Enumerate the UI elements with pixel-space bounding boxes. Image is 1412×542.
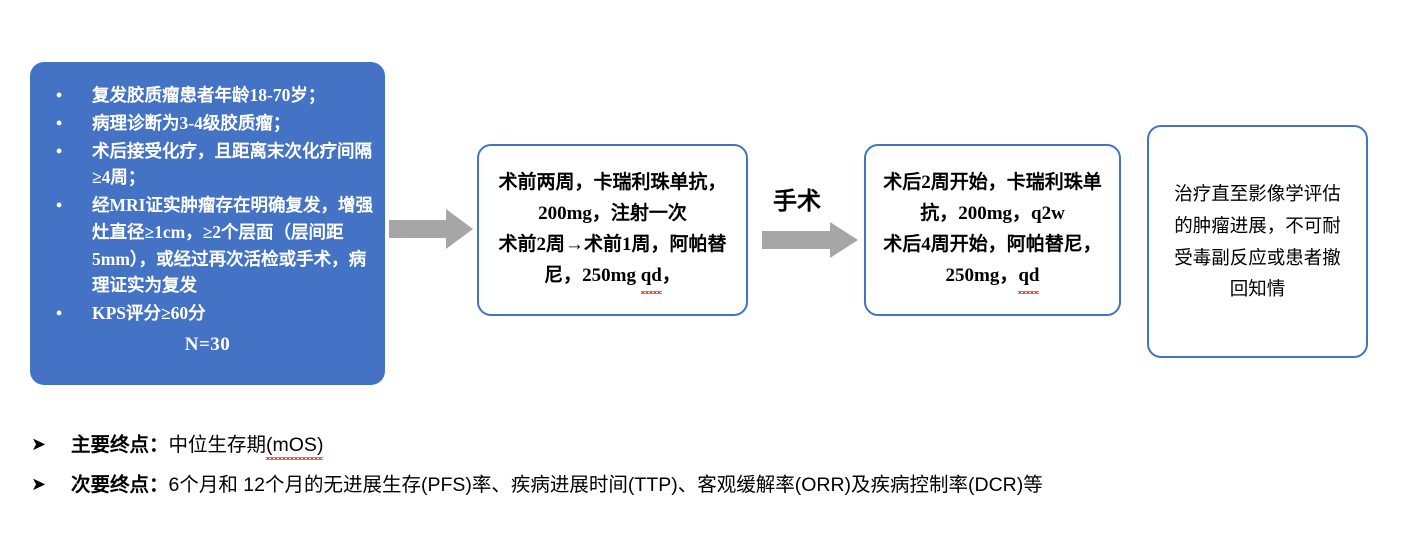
spellcheck-underline: qd (1018, 261, 1039, 292)
surgery-step-label: 手术 (773, 181, 821, 216)
arrow-bullet-icon: ➤ (31, 432, 46, 456)
bullet-icon: • (56, 300, 62, 327)
post-surgery-treatment-box: 术后2周开始，卡瑞利珠单 抗，200mg，q2w 术后4周开始，阿帕替尼， 25… (864, 144, 1121, 316)
treatment-line: 术前2周→术前1周，阿帕替 (489, 230, 736, 261)
arrow-right-icon (389, 209, 473, 249)
primary-endpoint-label: 主要终点： (71, 434, 169, 456)
list-item: • KPS评分≥60分 (42, 300, 373, 327)
secondary-endpoint-row: ➤ 次要终点：6个月和 12个月的无进展生存(PFS)率、疾病进展时间(TTP)… (27, 472, 1387, 498)
list-item: • 病理诊断为3-4级胶质瘤； (42, 110, 373, 137)
list-item: • 术后接受化疗，且距离末次化疗间隔≥4周； (42, 138, 373, 192)
spellcheck-underline: qd (641, 261, 662, 292)
bullet-icon: • (56, 138, 62, 165)
until-line: 回知情 (1159, 273, 1356, 305)
endpoints-section: ➤ 主要终点：中位生存期(mOS) ➤ 次要终点：6个月和 12个月的无进展生存… (27, 432, 1387, 513)
until-line: 治疗直至影像学评估 (1159, 178, 1356, 210)
treatment-line-with-spellcheck: 250mg，qd (876, 261, 1109, 292)
arrow-right-icon (762, 222, 858, 258)
secondary-endpoint-label: 次要终点： (71, 474, 169, 496)
treatment-line-with-spellcheck: 尼，250mg qd， (489, 261, 736, 292)
sample-size-label: N=30 (42, 334, 373, 356)
treatment-line-text: 尼，250mg qd， (544, 265, 681, 286)
treatment-line: 抗，200mg，q2w (876, 199, 1109, 230)
until-line: 的肿瘤进展，不可耐 (1159, 210, 1356, 242)
secondary-endpoint-text: 6个月和 12个月的无进展生存(PFS)率、疾病进展时间(TTP)、客观缓解率(… (169, 474, 1043, 496)
criteria-text: 术后接受化疗，且距离末次化疗间隔≥4周； (92, 141, 372, 188)
criteria-text: KPS评分≥60分 (92, 303, 206, 323)
treatment-line: 200mg，注射一次 (489, 199, 736, 230)
slide-canvas: • 复发胶质瘤患者年龄18-70岁； • 病理诊断为3-4级胶质瘤； • 术后接… (0, 0, 1412, 542)
inclusion-criteria-box: • 复发胶质瘤患者年龄18-70岁； • 病理诊断为3-4级胶质瘤； • 术后接… (30, 62, 385, 385)
primary-endpoint-text: 中位生存期 (169, 434, 267, 456)
post-surgery-lines: 术后2周开始，卡瑞利珠单 抗，200mg，q2w 术后4周开始，阿帕替尼， 25… (866, 168, 1119, 291)
arrow-bullet-icon: ➤ (31, 472, 46, 496)
list-item: • 复发胶质瘤患者年龄18-70岁； (42, 82, 373, 109)
bullet-icon: • (56, 82, 62, 109)
primary-endpoint-row: ➤ 主要终点：中位生存期(mOS) (27, 432, 1387, 458)
criteria-text: 经MRI证实肿瘤存在明确复发，增强灶直径≥1cm，≥2个层面（层间距5mm），或… (92, 195, 373, 295)
bullet-icon: • (56, 110, 62, 137)
treatment-line: 术后2周开始，卡瑞利珠单 (876, 168, 1109, 199)
criteria-list: • 复发胶质瘤患者年龄18-70岁； • 病理诊断为3-4级胶质瘤； • 术后接… (42, 82, 373, 327)
criteria-text: 复发胶质瘤患者年龄18-70岁； (92, 85, 325, 105)
pre-surgery-lines: 术前两周，卡瑞利珠单抗， 200mg，注射一次 术前2周→术前1周，阿帕替 尼，… (479, 168, 746, 291)
treatment-until-progression-box: 治疗直至影像学评估 的肿瘤进展，不可耐 受毒副反应或患者撤 回知情 (1147, 125, 1368, 358)
treatment-line: 术后4周开始，阿帕替尼， (876, 230, 1109, 261)
list-item: • 经MRI证实肿瘤存在明确复发，增强灶直径≥1cm，≥2个层面（层间距5mm）… (42, 192, 373, 299)
pre-surgery-treatment-box: 术前两周，卡瑞利珠单抗， 200mg，注射一次 术前2周→术前1周，阿帕替 尼，… (477, 144, 748, 316)
until-line: 受毒副反应或患者撤 (1159, 242, 1356, 274)
until-progression-lines: 治疗直至影像学评估 的肿瘤进展，不可耐 受毒副反应或患者撤 回知情 (1149, 178, 1366, 305)
primary-endpoint-abbrev: (mOS) (266, 432, 323, 458)
treatment-line: 术前两周，卡瑞利珠单抗， (489, 168, 736, 199)
bullet-icon: • (56, 192, 62, 219)
treatment-line-text: 250mg，qd (946, 265, 1040, 286)
criteria-text: 病理诊断为3-4级胶质瘤； (92, 113, 290, 133)
